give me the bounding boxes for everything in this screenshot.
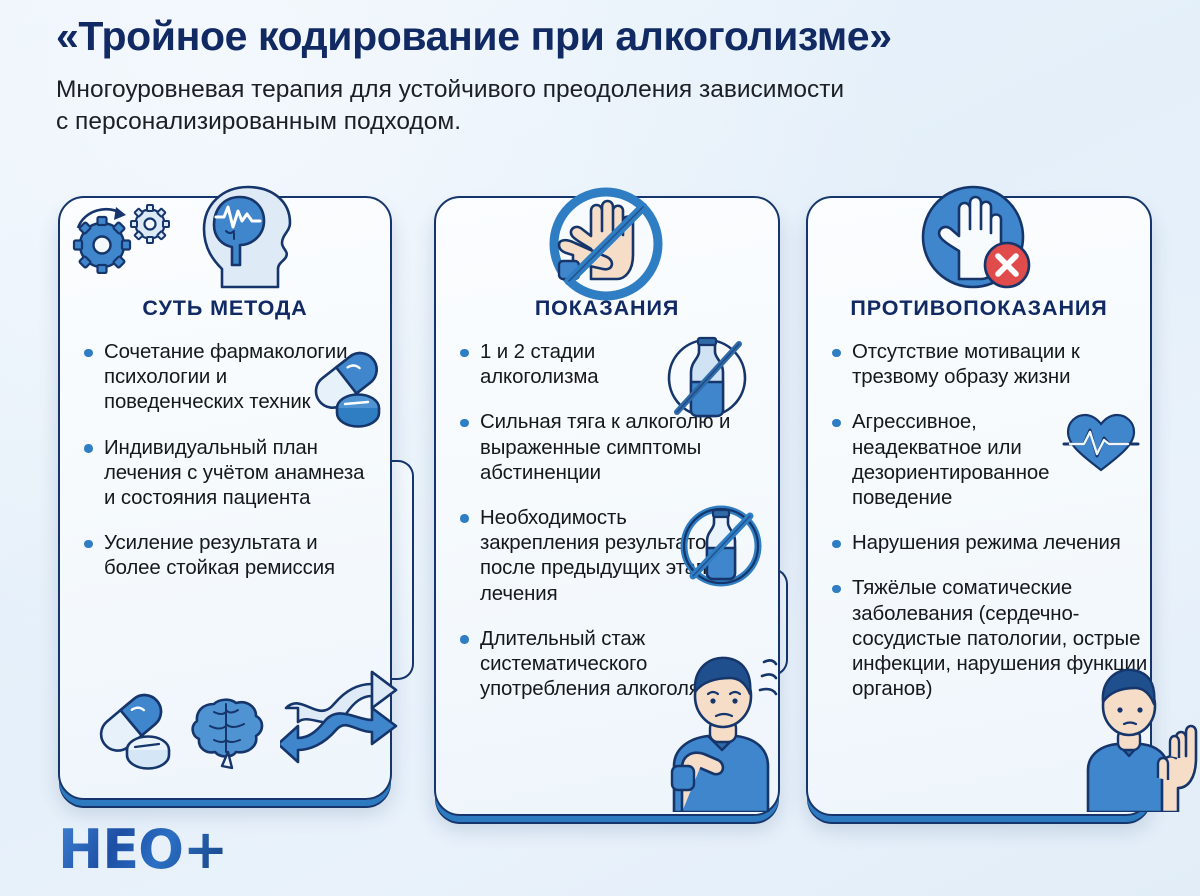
gears-icon bbox=[64, 198, 184, 274]
page-title: «Тройное кодирование при алкоголизме» bbox=[56, 14, 1166, 60]
list-item: Индивидуальный план лечения с учётом ана… bbox=[82, 436, 376, 512]
head-brain-pulse-icon bbox=[186, 183, 326, 291]
brain-icon bbox=[188, 692, 274, 774]
list-item: Агрессивное, неадекватное или дезориенти… bbox=[830, 410, 1090, 511]
capsule-pill-icon bbox=[298, 346, 394, 432]
stop-hand-red-cross-icon bbox=[915, 183, 1039, 299]
list-item: Нарушения режима лечения bbox=[830, 531, 1152, 556]
capsule-pill-icon bbox=[86, 690, 186, 776]
infographic-canvas: «Тройное кодирование при алкоголизме» Мн… bbox=[0, 0, 1200, 896]
card-1-title: СУТЬ МЕТОДА bbox=[60, 296, 390, 321]
no-hand-prohibition-icon bbox=[545, 183, 667, 305]
man-raised-hand-icon bbox=[1084, 660, 1200, 812]
brand-name: НЕО+ bbox=[58, 818, 227, 881]
list-item: 1 и 2 стадии алкоголизма bbox=[458, 340, 670, 390]
heart-pulse-icon bbox=[1062, 410, 1140, 476]
worried-man-icon bbox=[660, 648, 786, 812]
no-bottle-crossed-icon bbox=[674, 500, 768, 592]
subtitle-line-1: Многоуровневая терапия для устойчивого п… bbox=[56, 74, 1166, 107]
subtitle-line-2: с персонализированным подходом. bbox=[56, 106, 1166, 139]
page-subtitle: Многоуровневая терапия для устойчивого п… bbox=[56, 74, 1166, 139]
no-bottle-circle-icon bbox=[657, 330, 757, 426]
brand-logo[interactable]: НЕО+ bbox=[58, 818, 288, 880]
list-item: Усиление результата и более стойкая реми… bbox=[82, 531, 376, 581]
card-3-title: ПРОТИВОПОКАЗАНИЯ bbox=[808, 296, 1150, 321]
header: «Тройное кодирование при алкоголизме» Мн… bbox=[56, 14, 1166, 139]
shuffle-arrows-icon bbox=[280, 668, 402, 772]
list-item: Отсутствие мотивации к трезвому образу ж… bbox=[830, 340, 1152, 390]
